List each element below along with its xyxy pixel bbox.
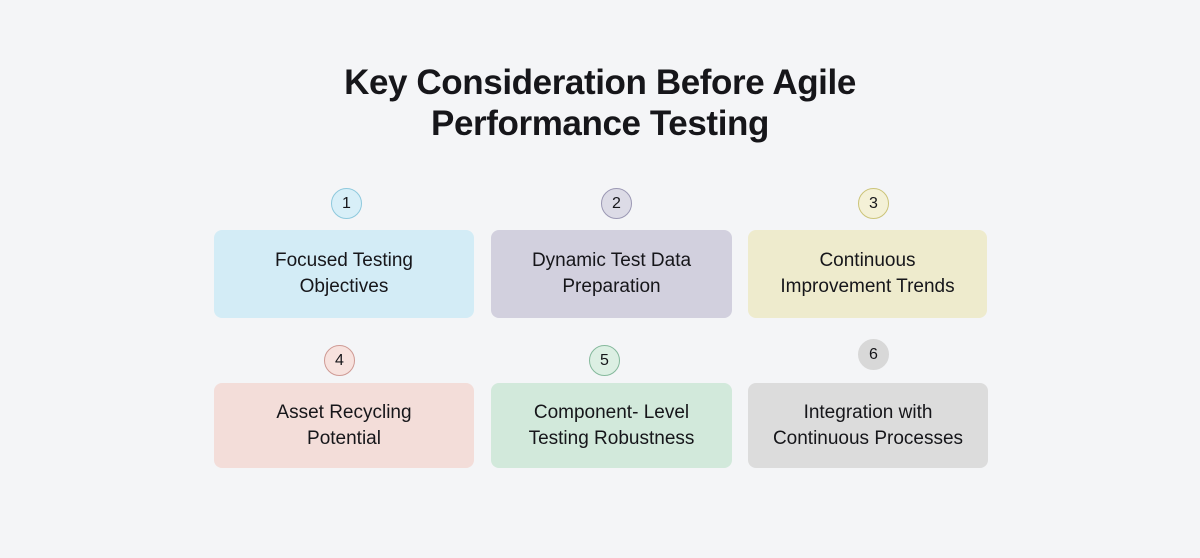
consideration-card-6[interactable]: Integration with Continuous Processes: [748, 383, 988, 468]
step-number-label-4: 4: [335, 353, 344, 369]
step-number-badge-4: 4: [324, 345, 355, 376]
step-number-label-1: 1: [342, 196, 351, 212]
step-number-badge-2: 2: [601, 188, 632, 219]
consideration-cards-grid: 1 Focused Testing Objectives 2 Dynamic T…: [0, 0, 1200, 558]
step-number-label-5: 5: [600, 353, 609, 369]
consideration-card-1[interactable]: Focused Testing Objectives: [214, 230, 474, 318]
step-number-label-6: 6: [869, 347, 878, 363]
consideration-card-4[interactable]: Asset Recycling Potential: [214, 383, 474, 468]
consideration-card-5[interactable]: Component- Level Testing Robustness: [491, 383, 732, 468]
step-number-badge-6: 6: [858, 339, 889, 370]
step-number-badge-5: 5: [589, 345, 620, 376]
step-number-label-2: 2: [612, 196, 621, 212]
step-number-badge-1: 1: [331, 188, 362, 219]
consideration-card-label-2: Dynamic Test Data Preparation: [532, 248, 691, 300]
consideration-card-2[interactable]: Dynamic Test Data Preparation: [491, 230, 732, 318]
step-number-label-3: 3: [869, 196, 878, 212]
consideration-card-label-5: Component- Level Testing Robustness: [529, 400, 695, 452]
consideration-card-label-3: Continuous Improvement Trends: [780, 248, 954, 300]
consideration-card-3[interactable]: Continuous Improvement Trends: [748, 230, 987, 318]
consideration-card-label-1: Focused Testing Objectives: [275, 248, 413, 300]
consideration-card-label-4: Asset Recycling Potential: [276, 400, 411, 452]
infographic-canvas: Key Consideration Before Agile Performan…: [0, 0, 1200, 558]
step-number-badge-3: 3: [858, 188, 889, 219]
consideration-card-label-6: Integration with Continuous Processes: [773, 400, 963, 452]
